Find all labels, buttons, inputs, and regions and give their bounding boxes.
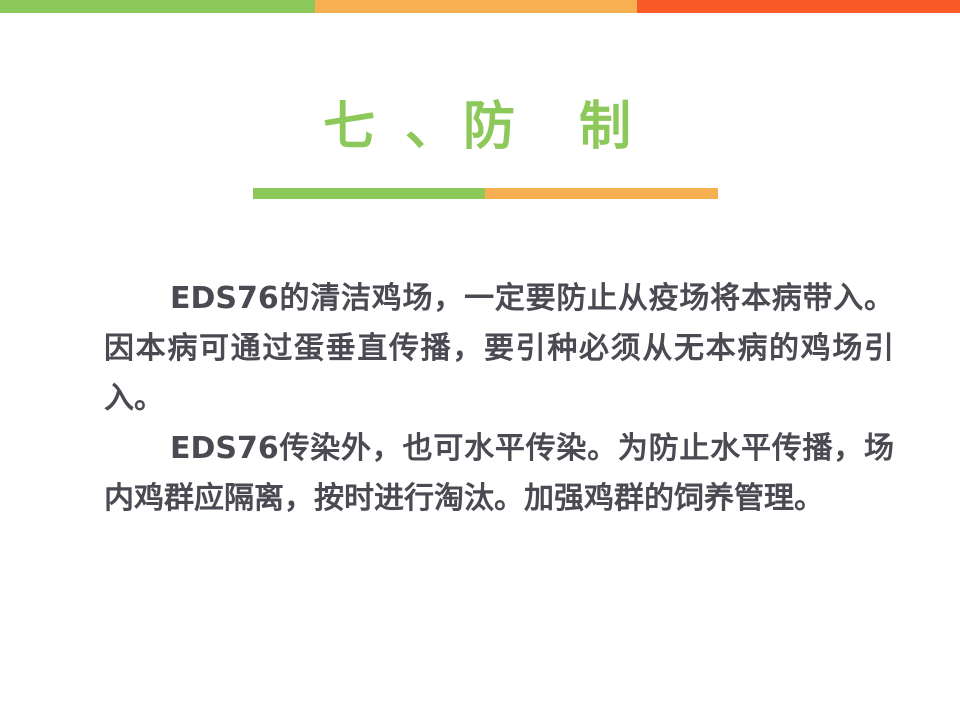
top-accent-bar xyxy=(0,0,960,13)
body-paragraph-2: EDS76传染外，也可水平传染。为防止水平传播，场内鸡群应隔离，按时进行淘汰。加… xyxy=(104,424,894,524)
top-bar-segment-red xyxy=(637,0,960,13)
body-paragraph-1: EDS76的清洁鸡场，一定要防止从疫场将本病带入。因本病可通过蛋垂直传播，要引种… xyxy=(104,274,894,424)
page-title: 七 、防 制 xyxy=(0,92,960,162)
title-divider-segment-orange xyxy=(485,188,718,199)
slide-root: 七 、防 制 EDS76的清洁鸡场，一定要防止从疫场将本病带入。因本病可通过蛋垂… xyxy=(0,0,960,720)
title-divider xyxy=(253,188,718,199)
title-block: 七 、防 制 xyxy=(0,92,960,162)
body-content: EDS76的清洁鸡场，一定要防止从疫场将本病带入。因本病可通过蛋垂直传播，要引种… xyxy=(104,274,894,524)
top-bar-segment-green xyxy=(0,0,315,13)
top-bar-segment-orange xyxy=(315,0,637,13)
title-divider-segment-green xyxy=(253,188,485,199)
